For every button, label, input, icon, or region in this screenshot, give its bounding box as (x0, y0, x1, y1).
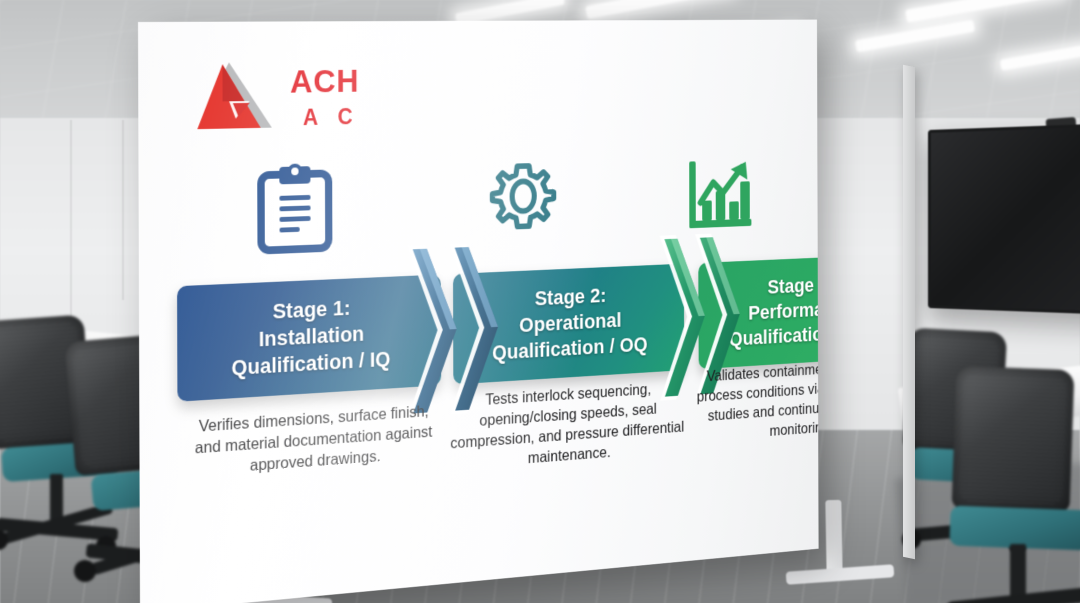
logo-secondary-text: A C (303, 106, 360, 129)
presentation-board: ACH A C (138, 20, 819, 603)
stage-3-description: Validates containment under real process… (694, 355, 819, 448)
presentation-board-wrap: ACH A C (0, 0, 1080, 603)
gear-icon (485, 160, 560, 251)
stage-1-description: Verifies dimensions, surface finish, and… (185, 400, 441, 481)
logo-primary-text: ACH (290, 65, 360, 98)
logo: ACH A C (191, 57, 359, 139)
screenshot-scene: ACH A C (0, 0, 1080, 603)
icon-cell-stage-2 (416, 157, 627, 253)
stage-2-description: Tests interlock sequencing, opening/clos… (450, 377, 685, 475)
board-content: ACH A C (138, 20, 819, 603)
logo-triangle-mark (191, 58, 277, 139)
icon-cell-stage-3 (626, 152, 817, 244)
bar-chart-up-icon (686, 154, 755, 241)
logo-wordmark: ACH A C (290, 65, 360, 129)
stage-banner-1[interactable]: Stage 1: Installation Qualification / IQ (177, 274, 441, 401)
icon-cell-stage-1 (139, 162, 417, 264)
stage-banner-2-label: Stage 2: Operational Qualification / OQ (485, 281, 654, 366)
clipboard-icon (255, 162, 334, 260)
stage-banner-1-label: Stage 1: Installation Qualification / IQ (224, 293, 398, 382)
